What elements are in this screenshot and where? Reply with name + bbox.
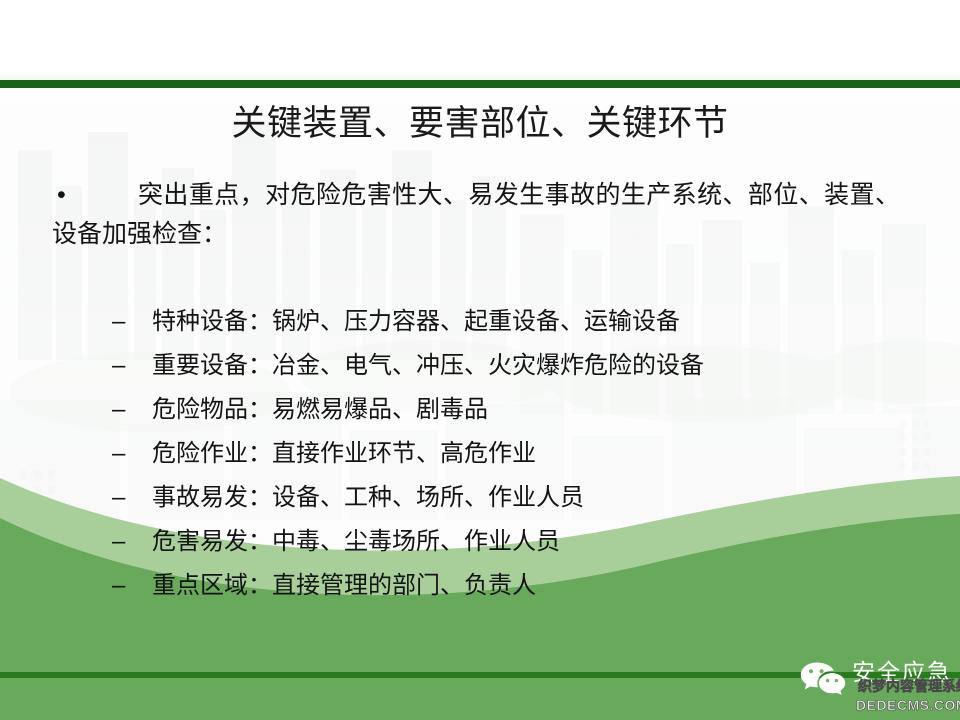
list-item: – 危险作业：直接作业环节、高危作业	[0, 432, 960, 476]
dash-marker-icon: –	[112, 476, 134, 520]
list-item-label: 危险作业：直接作业环节、高危作业	[152, 440, 536, 467]
watermark: 安全应急 织梦内容管理系统 DEDECMS.COM	[800, 655, 960, 717]
list-item-label: 危害易发：中毒、尘毒场所、作业人员	[152, 528, 560, 555]
list-item: – 重要设备：冶金、电气、冲压、火灾爆炸危险的设备	[0, 344, 960, 388]
dash-marker-icon: –	[112, 388, 134, 432]
list-item-label: 特种设备：锅炉、压力容器、起重设备、运输设备	[152, 308, 680, 335]
list-item-label: 重要设备：冶金、电气、冲压、火灾爆炸危险的设备	[152, 352, 704, 379]
watermark-cms-url: DEDECMS.COM	[856, 696, 960, 714]
page-title: 关键装置、要害部位、关键环节	[0, 102, 960, 146]
dash-marker-icon: –	[112, 300, 134, 344]
presentation-slide: 关键装置、要害部位、关键环节 • 突出重点，对危险危害性大、易发生事故的生产系统…	[0, 0, 960, 720]
dash-marker-icon: –	[112, 344, 134, 388]
list-item-label: 事故易发：设备、工种、场所、作业人员	[152, 484, 584, 511]
lead-paragraph: • 突出重点，对危险危害性大、易发生事故的生产系统、部位、装置、设备加强检查：	[0, 176, 960, 254]
list-item: – 重点区域：直接管理的部门、负责人	[0, 564, 960, 608]
list-item: – 危险物品：易燃易爆品、剧毒品	[0, 388, 960, 432]
top-divider-rule	[0, 80, 960, 88]
lead-paragraph-text: 突出重点，对危险危害性大、易发生事故的生产系统、部位、装置、设备加强检查：	[52, 176, 900, 254]
slide-body: • 突出重点，对危险危害性大、易发生事故的生产系统、部位、装置、设备加强检查： …	[0, 176, 960, 254]
dash-marker-icon: –	[112, 520, 134, 564]
top-rule-glow	[0, 70, 960, 80]
list-item: – 事故易发：设备、工种、场所、作业人员	[0, 476, 960, 520]
wechat-icon	[800, 661, 846, 695]
list-item-label: 重点区域：直接管理的部门、负责人	[152, 572, 536, 599]
dash-marker-icon: –	[112, 564, 134, 608]
watermark-cms-name: 织梦内容管理系统	[858, 677, 960, 695]
list-item: – 特种设备：锅炉、压力容器、起重设备、运输设备	[0, 300, 960, 344]
dash-marker-icon: –	[112, 432, 134, 476]
bullet-glyph-icon: •	[57, 176, 66, 215]
list-item-label: 危险物品：易燃易爆品、剧毒品	[152, 396, 488, 423]
list-item: – 危害易发：中毒、尘毒场所、作业人员	[0, 520, 960, 564]
sub-item-list: – 特种设备：锅炉、压力容器、起重设备、运输设备 – 重要设备：冶金、电气、冲压…	[0, 300, 960, 608]
